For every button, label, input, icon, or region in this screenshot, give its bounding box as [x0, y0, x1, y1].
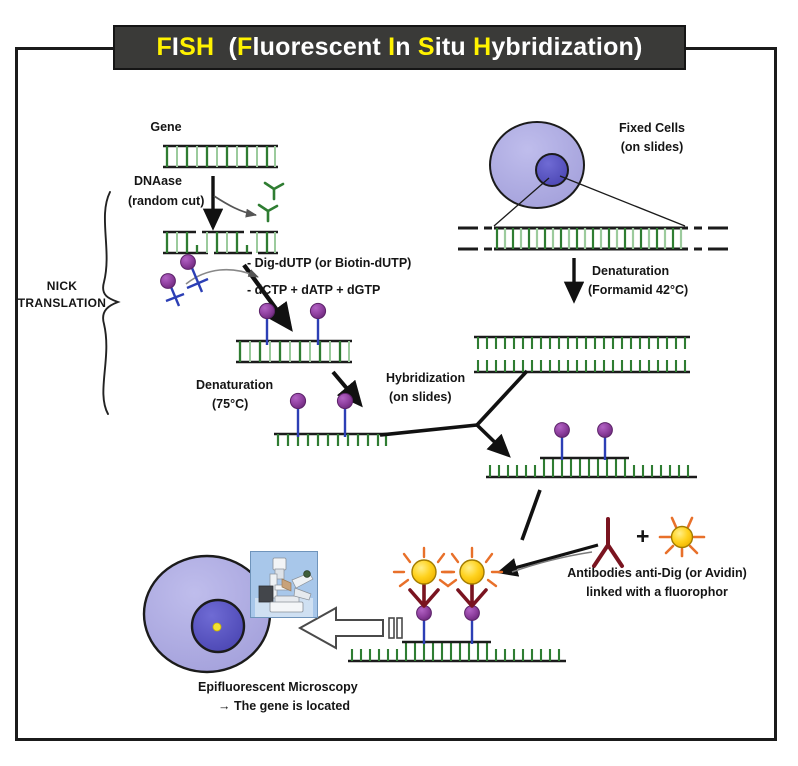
page-title: FISH (Fluorescent In Situ Hybridization): [156, 33, 642, 62]
label-dnaase-sub: (random cut): [128, 194, 204, 209]
label-result-line1: Epifluorescent Microscopy: [198, 680, 358, 695]
microscope-photo: [250, 551, 318, 618]
label-fixed-cells-sub: (on slides): [621, 140, 684, 155]
label-dntps: - dCTP + dATP + dGTP: [247, 283, 380, 298]
label-antibodies-line1: Antibodies anti-Dig (or Avidin): [567, 566, 747, 581]
label-nick-translation-line1: NICK: [47, 279, 78, 294]
arrow-to-enzyme: [214, 196, 256, 215]
hybridized-duplex: [486, 423, 697, 477]
label-result-line2: → The gene is located: [218, 699, 350, 714]
arrow-to-detection: [522, 490, 540, 540]
fish-diagram-canvas: FISH (Fluorescent In Situ Hybridization): [0, 0, 798, 766]
labeled-probe-duplex: [236, 303, 352, 362]
label-dig-dutp: - Dig-dUTP (or Biotin-dUTP): [247, 256, 411, 271]
denatured-target-strand-top: [474, 337, 690, 349]
denatured-target-strand-bottom: [474, 360, 690, 372]
denatured-probe-strand: [274, 393, 388, 446]
label-denaturation-probe: Denaturation: [196, 378, 273, 393]
label-denaturation-cells: Denaturation: [592, 264, 669, 279]
label-denaturation-probe-temp: (75°C): [212, 397, 248, 412]
label-hybridization-sub: (on slides): [389, 390, 452, 405]
label-plus-sign: +: [636, 522, 649, 550]
microscope-illustration: [251, 552, 317, 617]
cut-dna-fragments: [163, 232, 278, 253]
label-fixed-cells: Fixed Cells: [619, 121, 685, 136]
label-gene: Gene: [150, 120, 181, 135]
fixed-cell: [490, 122, 584, 208]
target-dna-on-slide: [458, 228, 728, 249]
label-nick-translation-line2: TRANSLATION: [18, 296, 106, 311]
dnaase-enzyme-icon: [259, 183, 283, 221]
fluorophore-legend-icon: [660, 518, 704, 556]
label-antibodies-line2: linked with a fluorophor: [586, 585, 728, 600]
label-hybridization: Hybridization: [386, 371, 465, 386]
title-banner: FISH (Fluorescent In Situ Hybridization): [113, 25, 686, 70]
antibody-legend-icon: [594, 519, 622, 566]
gene-duplex: [163, 146, 278, 167]
labeled-nucleotide-icon-1: [161, 274, 184, 306]
label-denaturation-cells-sub: (Formamid 42°C): [588, 283, 688, 298]
label-dnaase: DNAase: [134, 174, 182, 189]
